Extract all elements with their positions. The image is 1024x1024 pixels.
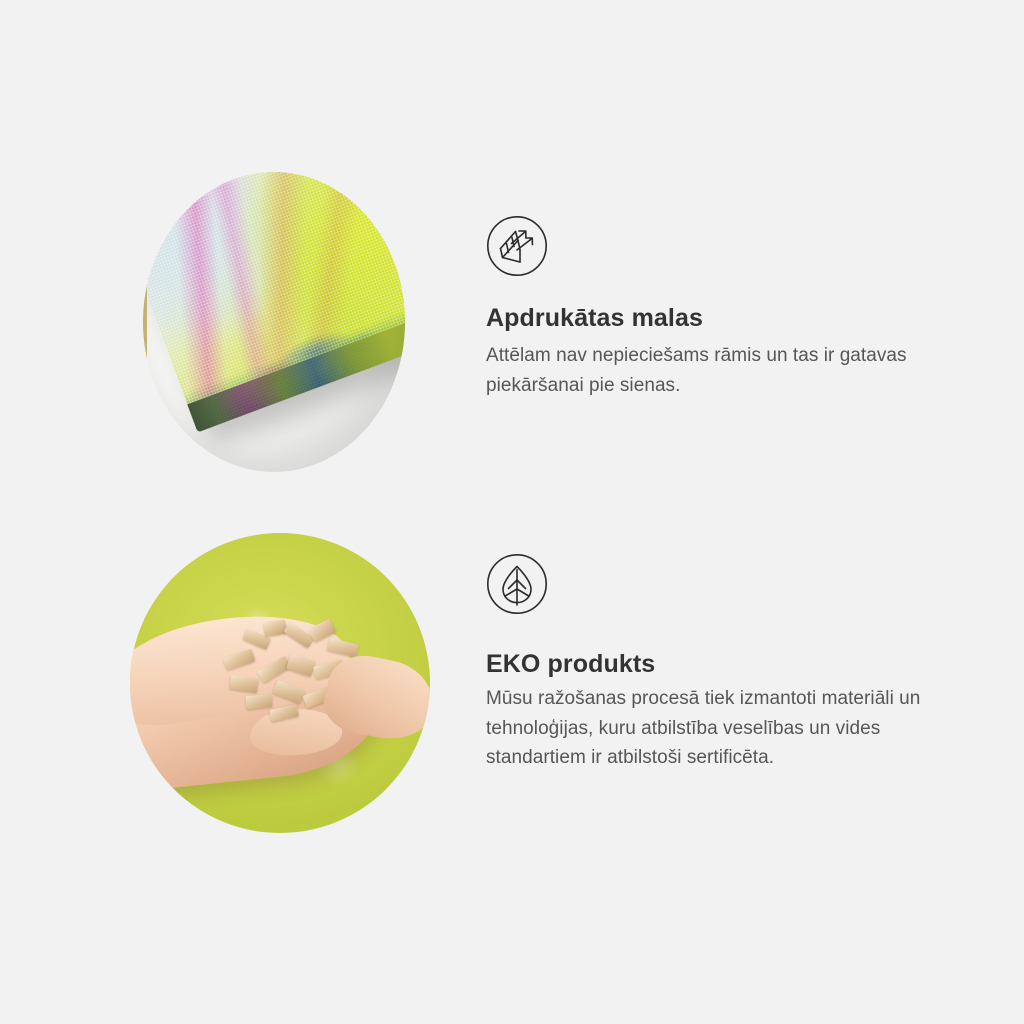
hands-holding-wood-chips-photo — [130, 533, 430, 833]
leaf-icon — [486, 553, 966, 620]
canvas-stretcher-side — [143, 282, 147, 471]
canvas-print-artwork — [143, 172, 405, 432]
feature-description: Mūsu ražošanas procesā tiek izmantoti ma… — [486, 684, 966, 773]
feature-text-column: EKO produkts Mūsu ražošanas procesā tiek… — [486, 533, 966, 773]
feature-title: EKO produkts — [486, 650, 966, 679]
feature-image-container — [132, 160, 432, 480]
feature-title: Apdrukātas malas — [486, 304, 956, 333]
feature-description: Attēlam nav nepieciešams rāmis un tas ir… — [486, 341, 956, 400]
feature-block-printed-edges: Apdrukātas malas Attēlam nav nepieciešam… — [0, 160, 956, 480]
feature-image-container — [130, 533, 430, 833]
feature-text-column: Apdrukātas malas Attēlam nav nepieciešam… — [486, 160, 956, 400]
feature-block-eco-product: EKO produkts Mūsu ražošanas procesā tiek… — [0, 533, 966, 833]
canvas-wrapped-edge-icon — [486, 215, 956, 282]
canvas-print-corner-photo — [143, 172, 405, 472]
product-features-panel: Apdrukātas malas Attēlam nav nepieciešam… — [0, 0, 1024, 1024]
